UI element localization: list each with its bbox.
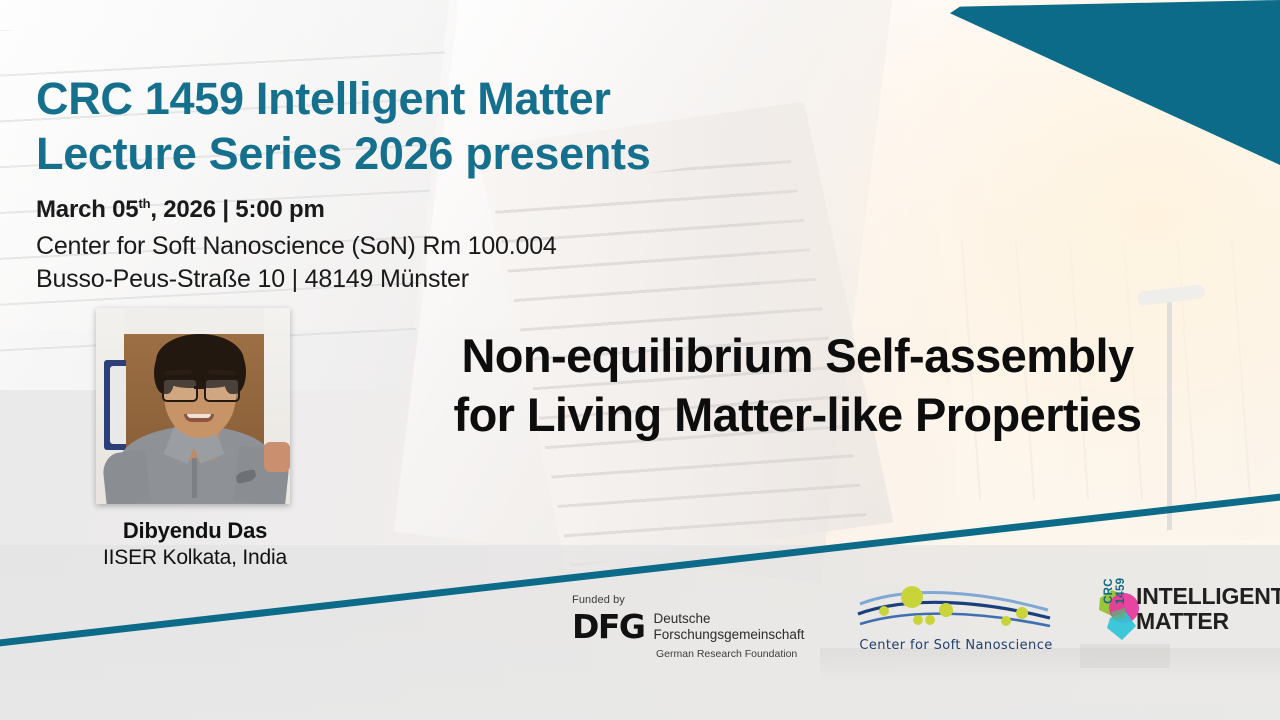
- speaker-affiliation: IISER Kolkata, India: [30, 546, 360, 570]
- venue-line-2: Busso-Peus-Straße 10 | 48149 Münster: [36, 263, 557, 296]
- talk-title: Non-equilibrium Self-assembly for Living…: [345, 326, 1250, 444]
- intelligent-matter-crc-label: CRC 1459: [1103, 563, 1121, 619]
- intelligent-matter-logo: CRC 1459 INTELLIGENT MATTER: [1090, 560, 1270, 652]
- dfg-subtitle: German Research Foundation: [656, 648, 822, 660]
- dfg-wordmark: DFG: [572, 610, 645, 643]
- photo-blue-board-inner: [110, 366, 126, 444]
- background-ground-far: [820, 648, 1280, 682]
- glasses-lens-left: [162, 378, 198, 402]
- photo-shoulder-left: [101, 450, 150, 504]
- photo-shirt-placket: [192, 458, 197, 498]
- lecture-poster: CRC 1459 Intelligent Matter Lecture Seri…: [0, 0, 1280, 720]
- event-datetime: March 05th, 2026 | 5:00 pm: [36, 196, 325, 224]
- event-venue: Center for Soft Nanoscience (SoN) Rm 100…: [36, 230, 557, 296]
- speaker-name: Dibyendu Das: [30, 518, 360, 544]
- dfg-name-line1: Deutsche: [654, 611, 805, 627]
- event-date-ordinal: th: [138, 196, 150, 211]
- intelligent-matter-word1: INTELLIGENT: [1136, 584, 1280, 609]
- dfg-logo: Funded by DFG Deutsche Forschungsgemeins…: [572, 594, 822, 660]
- son-logo-text: Center for Soft Nanoscience: [856, 638, 1056, 653]
- intelligent-matter-word2: MATTER: [1136, 609, 1280, 634]
- glasses-icon: [160, 378, 240, 398]
- speaker-block: Dibyendu Das IISER Kolkata, India: [30, 518, 360, 570]
- son-logo-mark: [856, 584, 1052, 636]
- talk-title-line2: for Living Matter-like Properties: [345, 385, 1250, 444]
- event-date-rest: , 2026 | 5:00 pm: [150, 196, 324, 223]
- talk-title-line1: Non-equilibrium Self-assembly: [345, 326, 1250, 385]
- venue-line-1: Center for Soft Nanoscience (SoN) Rm 100…: [36, 230, 557, 263]
- speaker-photo: [96, 308, 290, 504]
- son-logo: Center for Soft Nanoscience: [856, 584, 1056, 653]
- glasses-bridge: [194, 386, 206, 389]
- series-headline-line1: CRC 1459 Intelligent Matter: [36, 73, 611, 124]
- photo-wall-top: [124, 308, 264, 334]
- series-headline-line2: Lecture Series 2026 presents: [36, 127, 936, 182]
- photo-arm: [264, 442, 290, 472]
- event-date-prefix: March 05: [36, 196, 138, 223]
- glasses-lens-right: [204, 378, 240, 402]
- dfg-name-line2: Forschungsgemeinschaft: [654, 627, 805, 643]
- intelligent-matter-wordmark: INTELLIGENT MATTER: [1136, 584, 1280, 634]
- series-headline: CRC 1459 Intelligent Matter Lecture Seri…: [36, 72, 936, 182]
- dfg-funded-by: Funded by: [572, 594, 822, 606]
- photo-mouth: [184, 414, 214, 422]
